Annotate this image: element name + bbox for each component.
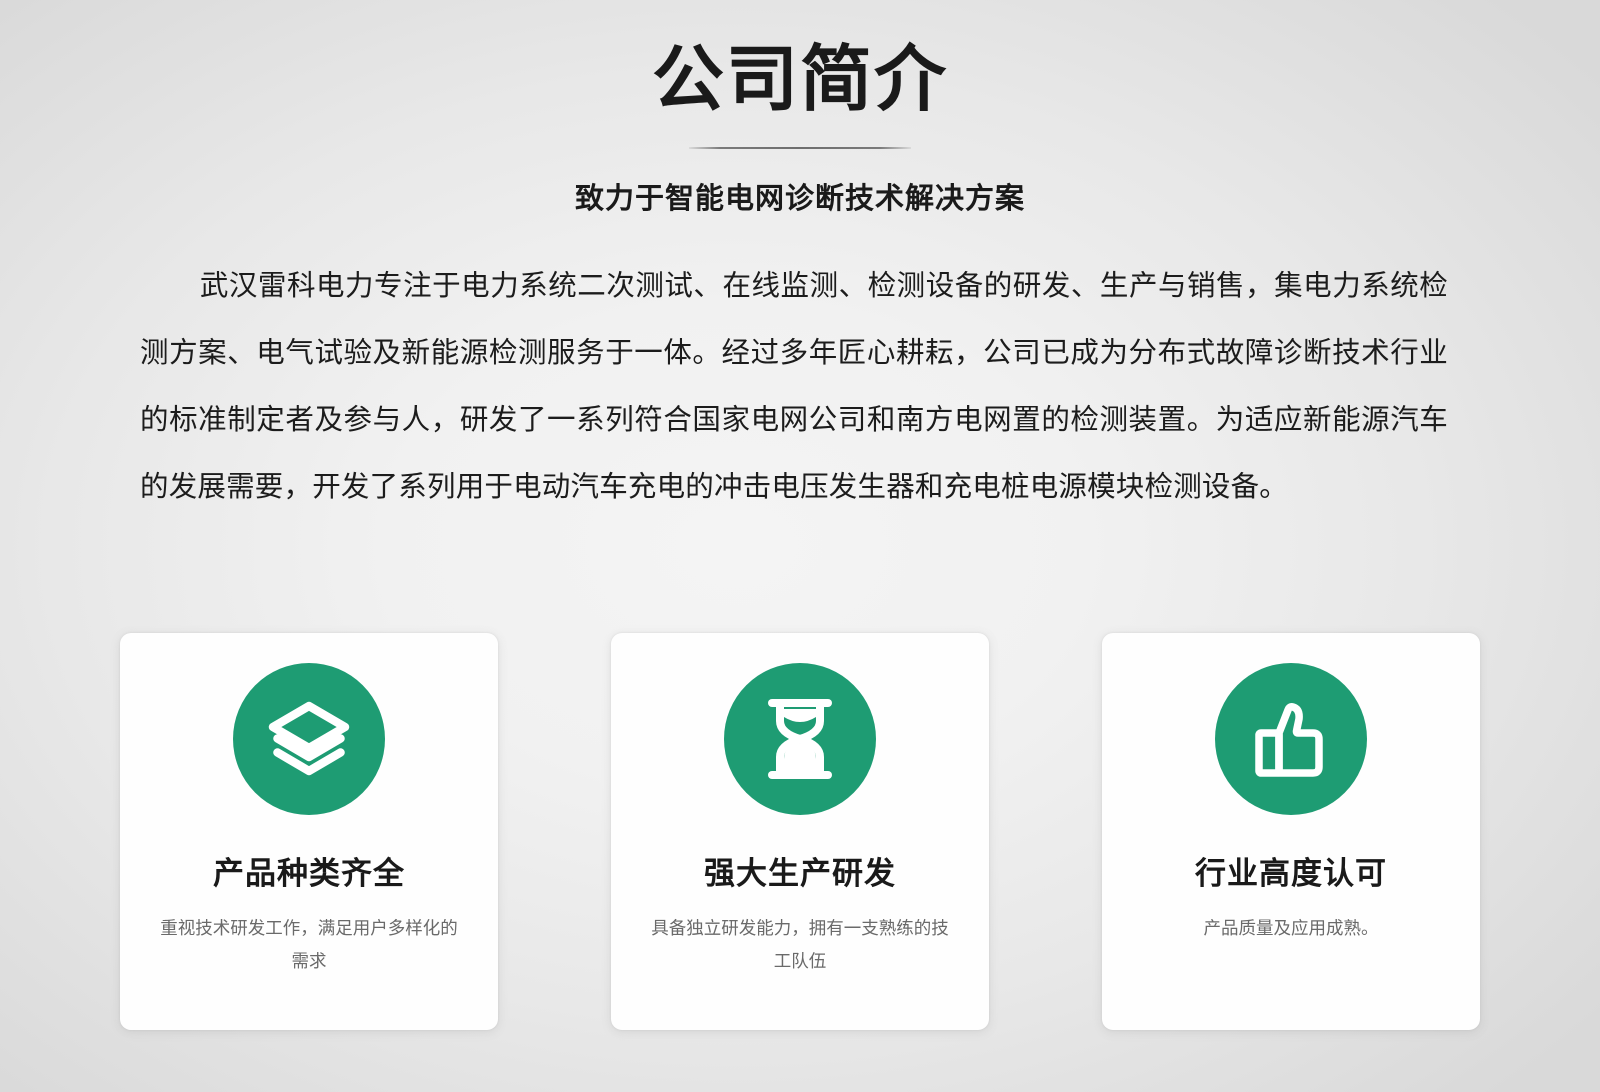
company-profile-page: 公司简介 致力于智能电网诊断技术解决方案 武汉雷科电力专注于电力系统二次测试、在… [0, 0, 1600, 1092]
feature-card-list: 产品种类齐全 重视技术研发工作，满足用户多样化的需求 强大生产研发 具备独立 [120, 633, 1480, 1030]
feature-card-product-range[interactable]: 产品种类齐全 重视技术研发工作，满足用户多样化的需求 [120, 633, 498, 1030]
page-subtitle: 致力于智能电网诊断技术解决方案 [0, 149, 1600, 217]
layers-icon [233, 663, 385, 815]
feature-card-title: 强大生产研发 [704, 815, 896, 893]
page-title: 公司简介 [0, 0, 1600, 117]
hourglass-icon [724, 663, 876, 815]
feature-card-title: 产品种类齐全 [213, 815, 405, 893]
feature-card-description: 产品质量及应用成熟。 [1141, 893, 1441, 945]
thumbs-up-icon [1215, 663, 1367, 815]
feature-card-title: 行业高度认可 [1195, 815, 1387, 893]
feature-card-industry-recognition[interactable]: 行业高度认可 产品质量及应用成熟。 [1102, 633, 1480, 1030]
page-header: 公司简介 致力于智能电网诊断技术解决方案 [0, 0, 1600, 217]
company-intro-paragraph: 武汉雷科电力专注于电力系统二次测试、在线监测、检测设备的研发、生产与销售，集电力… [140, 253, 1448, 521]
feature-card-description: 重视技术研发工作，满足用户多样化的需求 [159, 893, 459, 978]
feature-card-rd-capability[interactable]: 强大生产研发 具备独立研发能力，拥有一支熟练的技工队伍 [611, 633, 989, 1030]
feature-card-description: 具备独立研发能力，拥有一支熟练的技工队伍 [650, 893, 950, 978]
